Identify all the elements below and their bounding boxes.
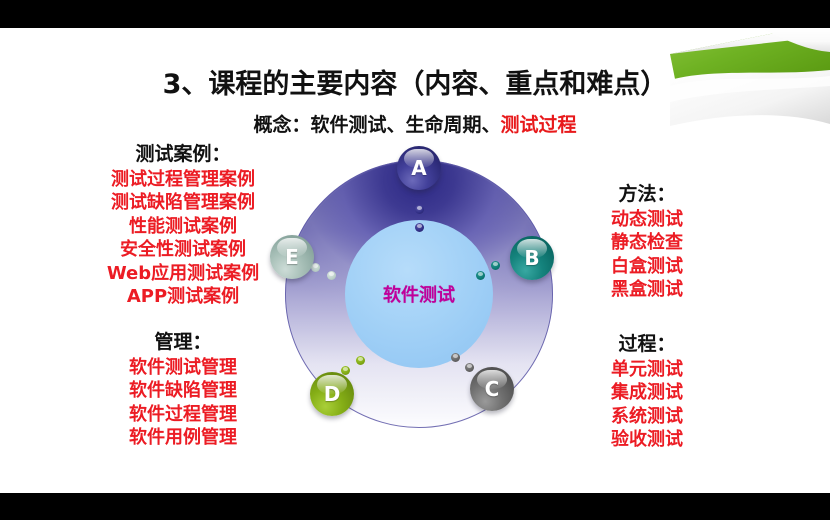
subtitle-highlight-text: 测试过程 — [501, 114, 577, 136]
block-heading-process: 过程： — [552, 332, 742, 357]
list-item: 测试过程管理案例 — [88, 168, 278, 191]
diagram-node-a-label: A — [411, 156, 426, 180]
list-item: 性能测试案例 — [88, 215, 278, 238]
subtitle-plain-text: 概念：软件测试、生命周期、 — [253, 114, 500, 136]
list-item: 软件缺陷管理 — [88, 379, 278, 402]
diagram-node-b-label: B — [524, 246, 539, 270]
connector-dot-b1 — [491, 261, 500, 270]
connector-dot-b2 — [476, 271, 485, 280]
connector-dot-a1 — [415, 205, 424, 214]
connector-dot-a2 — [415, 223, 424, 232]
list-item: 软件用例管理 — [88, 426, 278, 449]
diagram-node-e-label: E — [285, 245, 299, 269]
block-heading-method: 方法： — [552, 182, 742, 207]
list-item: 白盒测试 — [552, 255, 742, 278]
diagram-node-c-label: C — [485, 377, 500, 401]
text-block-manage: 管理： 软件测试管理 软件缺陷管理 软件过程管理 软件用例管理 — [88, 330, 278, 450]
diagram-node-d[interactable]: D — [310, 372, 354, 416]
slide-title: 3、课程的主要内容（内容、重点和难点） — [0, 62, 830, 101]
list-item: Web应用测试案例 — [88, 262, 278, 285]
diagram-center-label: 软件测试 — [345, 220, 493, 368]
diagram-node-a[interactable]: A — [397, 146, 441, 190]
connector-dot-e2 — [327, 271, 336, 280]
list-item: 软件测试管理 — [88, 356, 278, 379]
list-item: 集成测试 — [552, 381, 742, 404]
list-item: 验收测试 — [552, 428, 742, 451]
connector-dot-c2 — [465, 363, 474, 372]
connector-dot-d1 — [356, 356, 365, 365]
list-item: APP测试案例 — [88, 285, 278, 308]
list-item: 系统测试 — [552, 405, 742, 428]
list-item: 测试缺陷管理案例 — [88, 191, 278, 214]
list-item: 静态检查 — [552, 231, 742, 254]
text-block-cases: 测试案例： 测试过程管理案例 测试缺陷管理案例 性能测试案例 安全性测试案例 W… — [88, 142, 278, 308]
diagram-node-c[interactable]: C — [470, 367, 514, 411]
text-block-process: 过程： 单元测试 集成测试 系统测试 验收测试 — [552, 332, 742, 452]
circular-diagram: 软件测试 A B C D E — [262, 150, 577, 440]
block-heading-manage: 管理： — [88, 330, 278, 355]
connector-dot-c1 — [451, 353, 460, 362]
letterbox-bar-bottom — [0, 493, 830, 520]
list-item: 软件过程管理 — [88, 403, 278, 426]
list-item: 黑盒测试 — [552, 278, 742, 301]
text-block-method: 方法： 动态测试 静态检查 白盒测试 黑盒测试 — [552, 182, 742, 302]
slide-subtitle: 概念：软件测试、生命周期、测试过程 — [0, 110, 830, 137]
block-heading-cases: 测试案例： — [88, 142, 278, 167]
slide-canvas: 3、课程的主要内容（内容、重点和难点） 概念：软件测试、生命周期、测试过程 测试… — [0, 0, 830, 520]
diagram-node-d-label: D — [324, 382, 341, 406]
letterbox-bar-top — [0, 0, 830, 28]
list-item: 单元测试 — [552, 358, 742, 381]
list-item: 安全性测试案例 — [88, 238, 278, 261]
diagram-node-b[interactable]: B — [510, 236, 554, 280]
list-item: 动态测试 — [552, 208, 742, 231]
